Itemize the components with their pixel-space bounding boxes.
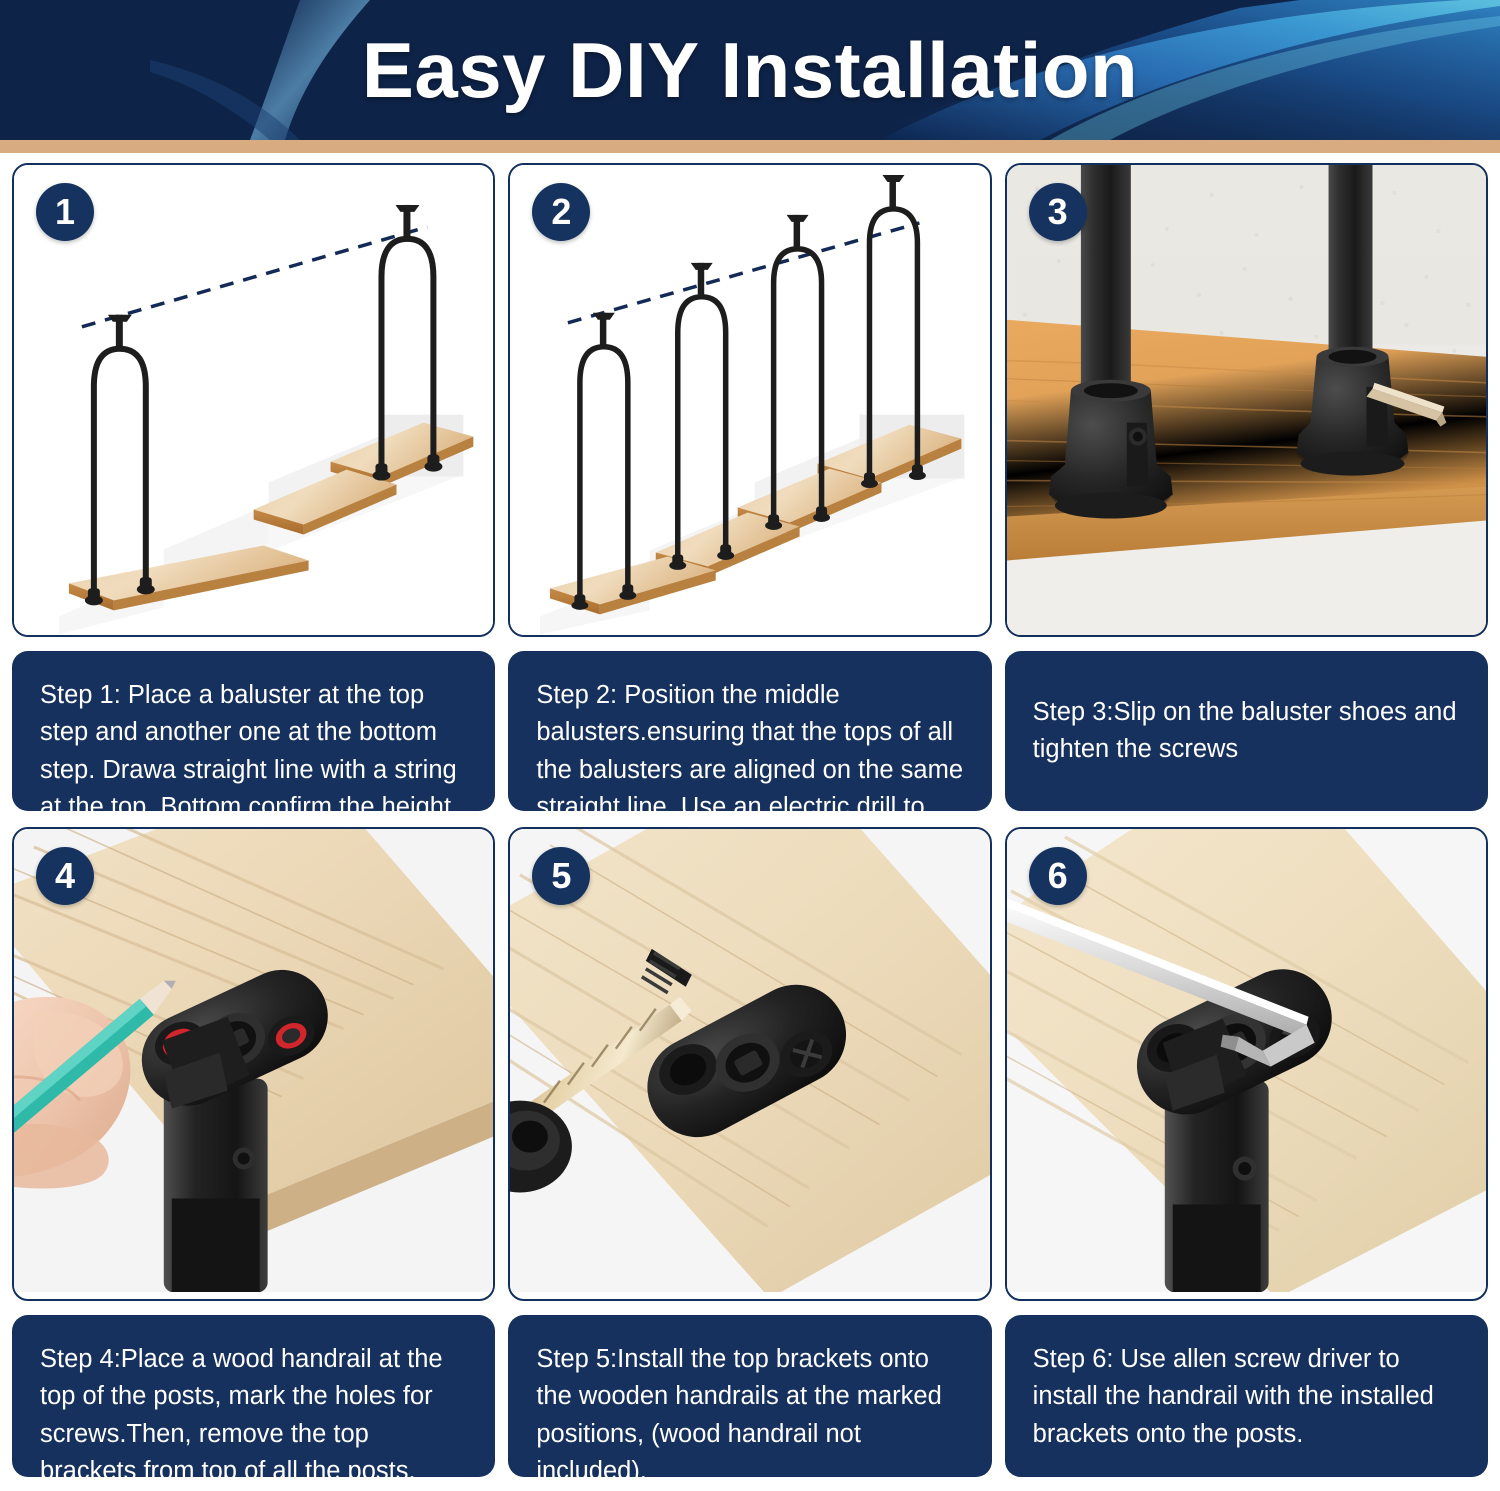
step-text-3: Step 3:Slip on the baluster shoes and ti… bbox=[1033, 694, 1462, 769]
step-badge-2: 2 bbox=[532, 183, 590, 241]
step-badge-4: 4 bbox=[36, 847, 94, 905]
step-badge-1: 1 bbox=[36, 183, 94, 241]
step-image-panel-2: 2 bbox=[508, 163, 991, 637]
step-textbox-4: Step 4:Place a wood handrail at the top … bbox=[12, 1315, 495, 1477]
pencil-marking-photo bbox=[14, 829, 493, 1292]
steps-grid: 1 Step 1: Place a baluster at the top st… bbox=[0, 163, 1500, 1475]
step-text-4: Step 4:Place a wood handrail at the top … bbox=[40, 1341, 469, 1491]
step-image-panel-6: 6 bbox=[1005, 827, 1488, 1301]
step-badge-3: 3 bbox=[1029, 183, 1087, 241]
step-badge-5: 5 bbox=[532, 847, 590, 905]
step-cell-5: 5 Step 5:Install the top brackets onto t… bbox=[508, 827, 991, 1477]
step-image-panel-1: 1 bbox=[12, 163, 495, 637]
step-text-5: Step 5:Install the top brackets onto the… bbox=[536, 1341, 965, 1491]
step-cell-1: 1 Step 1: Place a baluster at the top st… bbox=[12, 163, 495, 811]
header-banner: Easy DIY Installation bbox=[0, 0, 1500, 140]
baluster-shoes-photo bbox=[1007, 165, 1486, 637]
step-textbox-3: Step 3:Slip on the baluster shoes and ti… bbox=[1005, 651, 1488, 811]
step-cell-4: 4 Step 4:Place a wood handrail at the to… bbox=[12, 827, 495, 1477]
step-textbox-1: Step 1: Place a baluster at the top step… bbox=[12, 651, 495, 811]
drilling-screw-photo bbox=[510, 829, 989, 1292]
step-image-panel-4: 4 bbox=[12, 827, 495, 1301]
step-text-6: Step 6: Use allen screw driver to instal… bbox=[1033, 1341, 1462, 1453]
step-textbox-6: Step 6: Use allen screw driver to instal… bbox=[1005, 1315, 1488, 1477]
page-title: Easy DIY Installation bbox=[0, 0, 1500, 140]
infographic-page: Easy DIY Installation bbox=[0, 0, 1500, 1475]
step-badge-6: 6 bbox=[1029, 847, 1087, 905]
step-image-panel-3: 3 bbox=[1005, 163, 1488, 637]
step-cell-2: 2 Step 2: Position the middle balusters.… bbox=[508, 163, 991, 811]
allen-key-photo bbox=[1007, 829, 1486, 1292]
step-cell-3: 3 Step 3:Slip on the baluster shoes and … bbox=[1005, 163, 1488, 811]
stairs-four-balusters-illustration bbox=[510, 165, 989, 637]
header-accent-bar bbox=[0, 140, 1500, 153]
step-textbox-2: Step 2: Position the middle balusters.en… bbox=[508, 651, 991, 811]
step-cell-6: 6 Step 6: Use allen screw driver to inst… bbox=[1005, 827, 1488, 1477]
step-image-panel-5: 5 bbox=[508, 827, 991, 1301]
stairs-two-balusters-illustration bbox=[14, 165, 493, 637]
step-textbox-5: Step 5:Install the top brackets onto the… bbox=[508, 1315, 991, 1477]
